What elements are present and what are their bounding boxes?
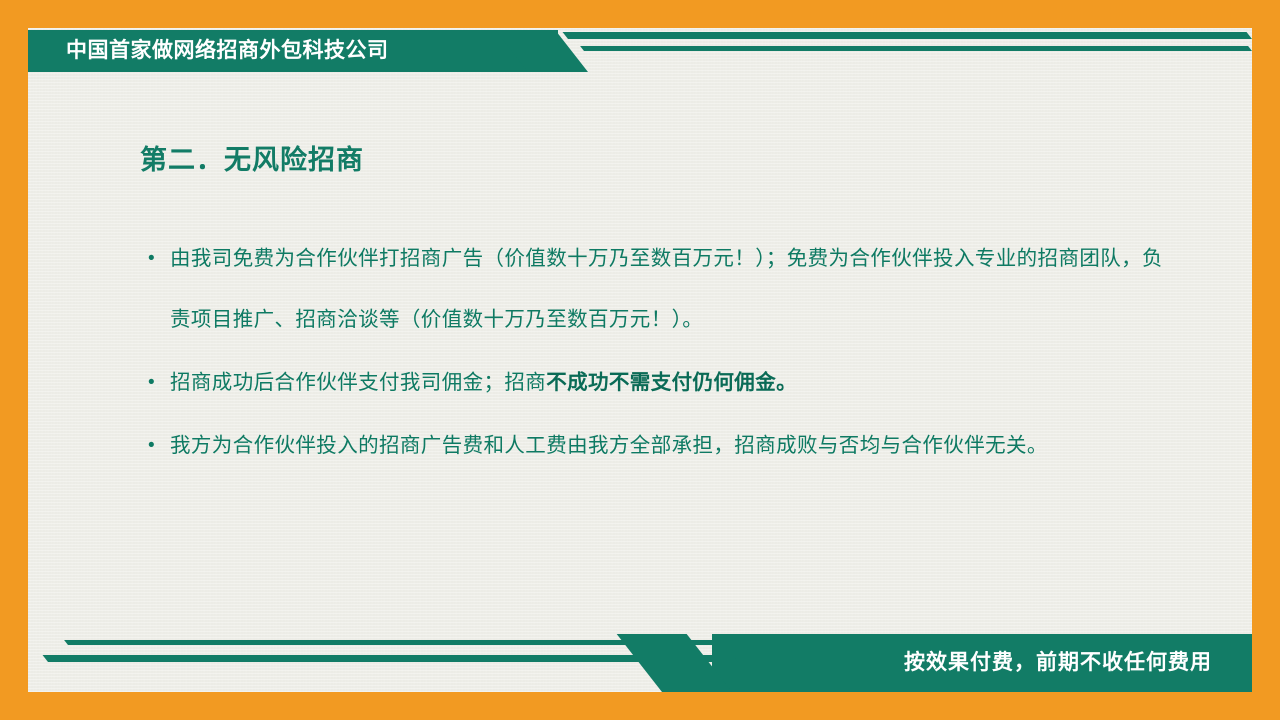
footer-tagline: 按效果付费，前期不收任何费用: [904, 634, 1212, 692]
header-banner: 中国首家做网络招商外包科技公司: [28, 30, 1252, 72]
bullet-text: 由我司免费为合作伙伴打招商广告（价值数十万乃至数百万元！）；免费为合作伙伴投入专…: [170, 247, 1163, 331]
footer-accent-line-bottom: [64, 640, 718, 645]
bullet-marker-icon: •: [148, 352, 155, 413]
bullet-marker-icon: •: [148, 415, 155, 476]
bullet-list: • 由我司免费为合作伙伴打招商广告（价值数十万乃至数百万元！）；免费为合作伙伴投…: [140, 228, 1180, 478]
bullet-text: 我方为合作伙伴投入的招商广告费和人工费由我方全部承担，招商成败与否均与合作伙伴无…: [170, 434, 1048, 457]
header-title: 中国首家做网络招商外包科技公司: [66, 30, 389, 72]
slide-canvas: 中国首家做网络招商外包科技公司 第二．无风险招商 • 由我司免费为合作伙伴打招商…: [0, 0, 1280, 720]
list-item: • 由我司免费为合作伙伴打招商广告（价值数十万乃至数百万元！）；免费为合作伙伴投…: [140, 228, 1180, 350]
footer-banner: 按效果付费，前期不收任何费用: [28, 634, 1252, 692]
footer-accent-line-top: [43, 655, 738, 662]
bullet-text: 招商成功后合作伙伴支付我司佣金；招商: [170, 371, 546, 394]
bullet-marker-icon: •: [148, 228, 155, 289]
bullet-text-emphasis: 不成功不需支付仍何佣金。: [546, 371, 797, 394]
page-title: 第二．无风险招商: [140, 138, 364, 177]
list-item: • 招商成功后合作伙伴支付我司佣金；招商不成功不需支付仍何佣金。: [140, 352, 1180, 413]
header-accent-line-bottom: [580, 46, 1252, 51]
header-accent-line-top: [563, 32, 1252, 39]
list-item: • 我方为合作伙伴投入的招商广告费和人工费由我方全部承担，招商成败与否均与合作伙…: [140, 415, 1180, 476]
